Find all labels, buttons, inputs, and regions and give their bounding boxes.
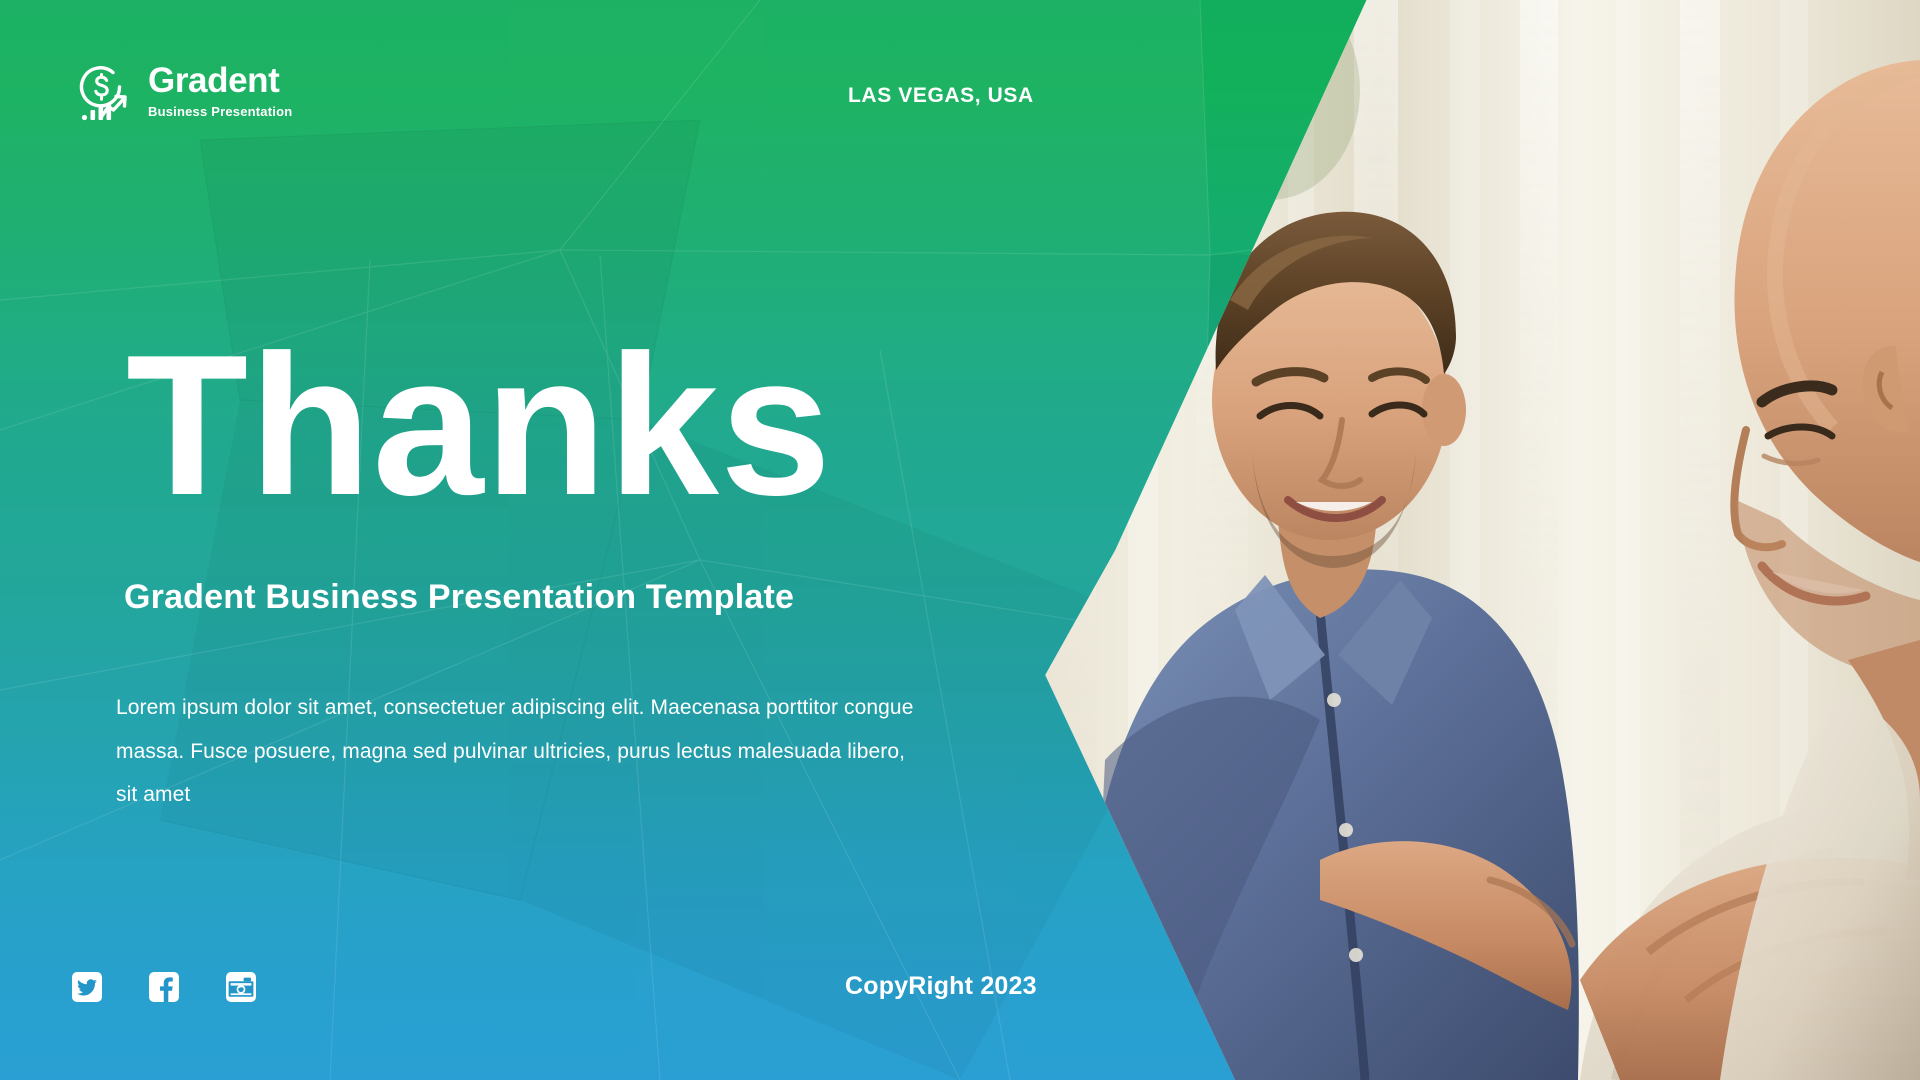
body-paragraph: Lorem ipsum dolor sit amet, consectetuer…	[116, 686, 916, 817]
logo-name: Gradent	[148, 63, 292, 100]
twitter-icon[interactable]	[72, 972, 102, 1002]
page-title: Thanks	[126, 328, 832, 524]
copyright-label: CopyRight 2023	[845, 972, 1037, 1001]
dollar-circle-growth-chart-icon	[72, 60, 134, 122]
logo-tagline: Business Presentation	[148, 104, 292, 119]
camera-icon[interactable]	[226, 972, 256, 1002]
social-links	[72, 972, 256, 1002]
presentation-slide: Gradent Business Presentation LAS VEGAS,…	[0, 0, 1920, 1080]
facebook-icon[interactable]	[149, 972, 179, 1002]
page-subtitle: Gradent Business Presentation Template	[124, 578, 794, 617]
brand-logo[interactable]: Gradent Business Presentation	[72, 60, 292, 122]
location-label: LAS VEGAS, USA	[848, 84, 1034, 108]
